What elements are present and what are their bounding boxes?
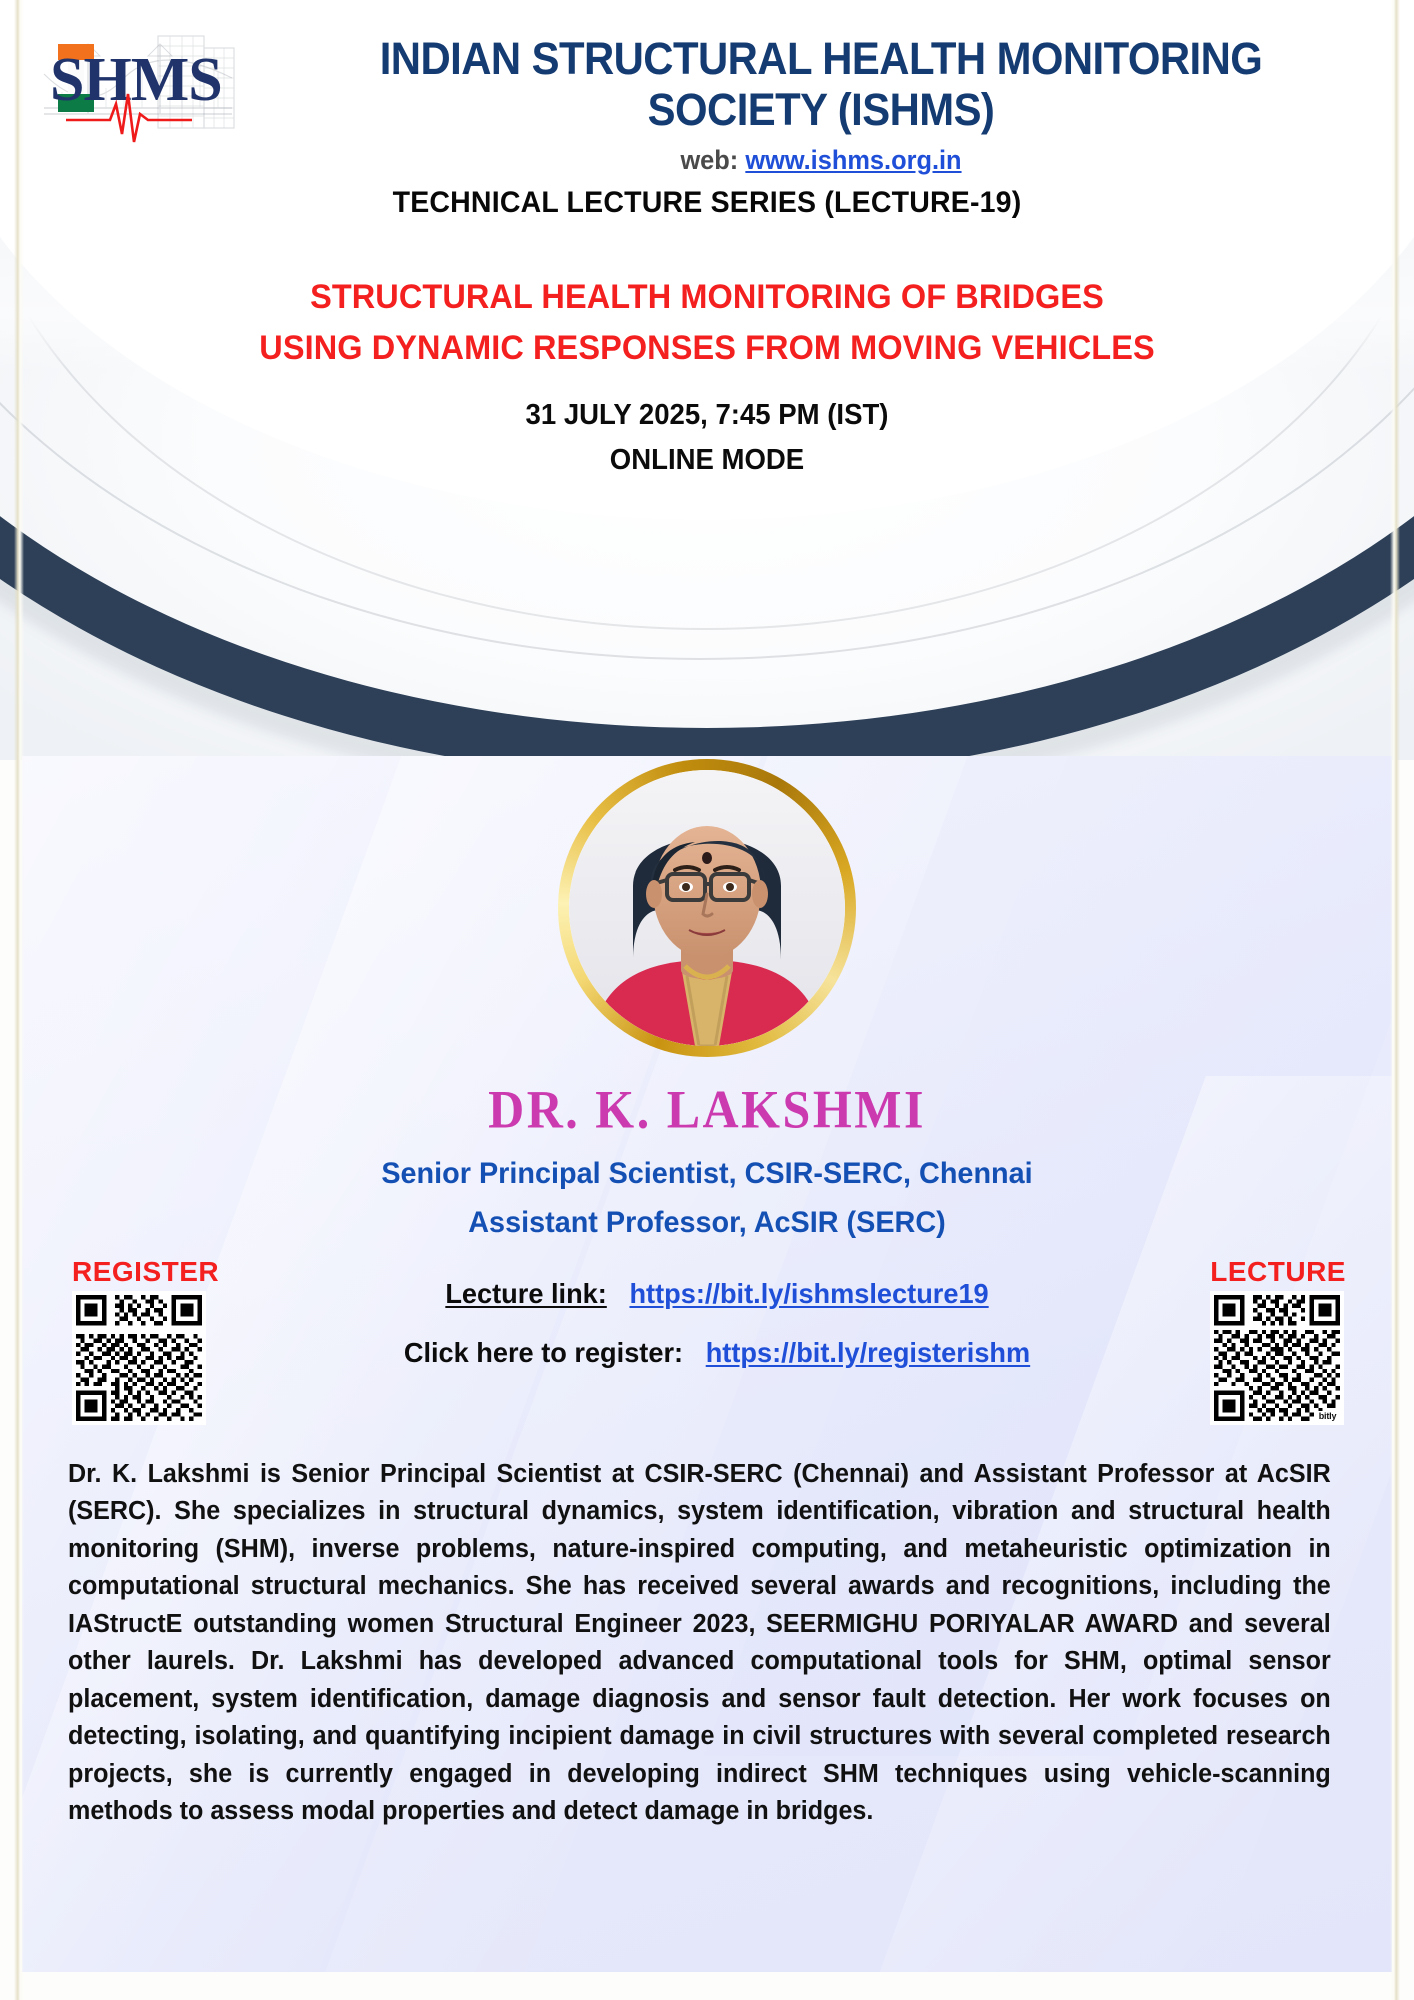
speaker-affiliation: Senior Principal Scientist, CSIR-SERC, C… — [49, 1150, 1364, 1247]
lecture-qr-code[interactable]: bitly — [1210, 1291, 1344, 1425]
logo-and-org: SHMS INDIAN STRUCTURAL HEALTH MONITORING… — [26, 16, 1388, 166]
web-label: web: — [680, 145, 738, 175]
speaker-photo — [558, 759, 856, 1057]
event-date-time: 31 JULY 2025, 7:45 PM (IST) — [35, 393, 1378, 438]
qr-bitly-watermark: bitly — [1317, 1411, 1339, 1421]
organization-block: INDIAN STRUCTURAL HEALTH MONITORING SOCI… — [244, 16, 1388, 176]
lecture-title-line-2: USING DYNAMIC RESPONSES FROM MOVING VEHI… — [32, 323, 1382, 374]
affiliation-line-2: Assistant Professor, AcSIR (SERC) — [49, 1199, 1364, 1248]
photo-gold-ring — [558, 759, 856, 1057]
speaker-bio: Dr. K. Lakshmi is Senior Principal Scien… — [68, 1456, 1331, 1831]
lecture-qr-icon — [1214, 1295, 1340, 1421]
lecture-link-url[interactable]: https://bit.ly/ishmslecture19 — [629, 1278, 988, 1309]
lecture-link-row: Lecture link: https://bit.ly/ishmslectur… — [295, 1278, 1139, 1310]
links-block: Lecture link: https://bit.ly/ishmslectur… — [282, 1278, 1152, 1396]
lecture-link-label: Lecture link: — [445, 1278, 606, 1309]
qr-and-links-row: REGISTER — [22, 1256, 1392, 1432]
affiliation-line-1: Senior Principal Scientist, CSIR-SERC, C… — [49, 1150, 1364, 1199]
register-qr-block[interactable]: REGISTER — [72, 1256, 219, 1425]
lecture-title: STRUCTURAL HEALTH MONITORING OF BRIDGES … — [32, 272, 1382, 374]
website-link[interactable]: www.ishms.org.in — [745, 145, 961, 175]
lecture-qr-block[interactable]: LECTURE — [1210, 1256, 1346, 1425]
event-schedule: 31 JULY 2025, 7:45 PM (IST) ONLINE MODE — [35, 393, 1378, 483]
register-link-url[interactable]: https://bit.ly/registerishm — [706, 1337, 1030, 1368]
lecture-title-line-1: STRUCTURAL HEALTH MONITORING OF BRIDGES — [32, 272, 1382, 323]
lower-panel: DR. K. LAKSHMI Senior Principal Scientis… — [22, 756, 1392, 1972]
photo-inner — [569, 770, 845, 1046]
speaker-name: DR. K. LAKSHMI — [22, 1078, 1392, 1141]
org-title-line-1: INDIAN STRUCTURAL HEALTH MONITORING — [294, 34, 1349, 85]
register-link-label: Click here to register: — [404, 1337, 683, 1368]
ishms-logo: SHMS — [32, 22, 244, 152]
lecture-qr-caption: LECTURE — [1210, 1256, 1346, 1288]
lecture-series-line: TECHNICAL LECTURE SERIES (LECTURE-19) — [35, 186, 1378, 220]
org-title-line-2: SOCIETY (ISHMS) — [294, 85, 1349, 136]
org-website-row: web: www.ishms.org.in — [288, 145, 1354, 176]
ishms-logo-icon: SHMS — [32, 22, 244, 152]
svg-text:SHMS: SHMS — [50, 46, 222, 114]
register-qr-icon — [76, 1295, 202, 1421]
register-qr-code[interactable] — [72, 1291, 206, 1425]
register-link-row: Click here to register: https://bit.ly/r… — [295, 1337, 1139, 1369]
poster-root: SHMS INDIAN STRUCTURAL HEALTH MONITORING… — [0, 0, 1414, 2000]
speaker-portrait-illustration — [569, 770, 845, 1046]
register-qr-caption: REGISTER — [72, 1256, 219, 1288]
event-mode: ONLINE MODE — [35, 438, 1378, 483]
